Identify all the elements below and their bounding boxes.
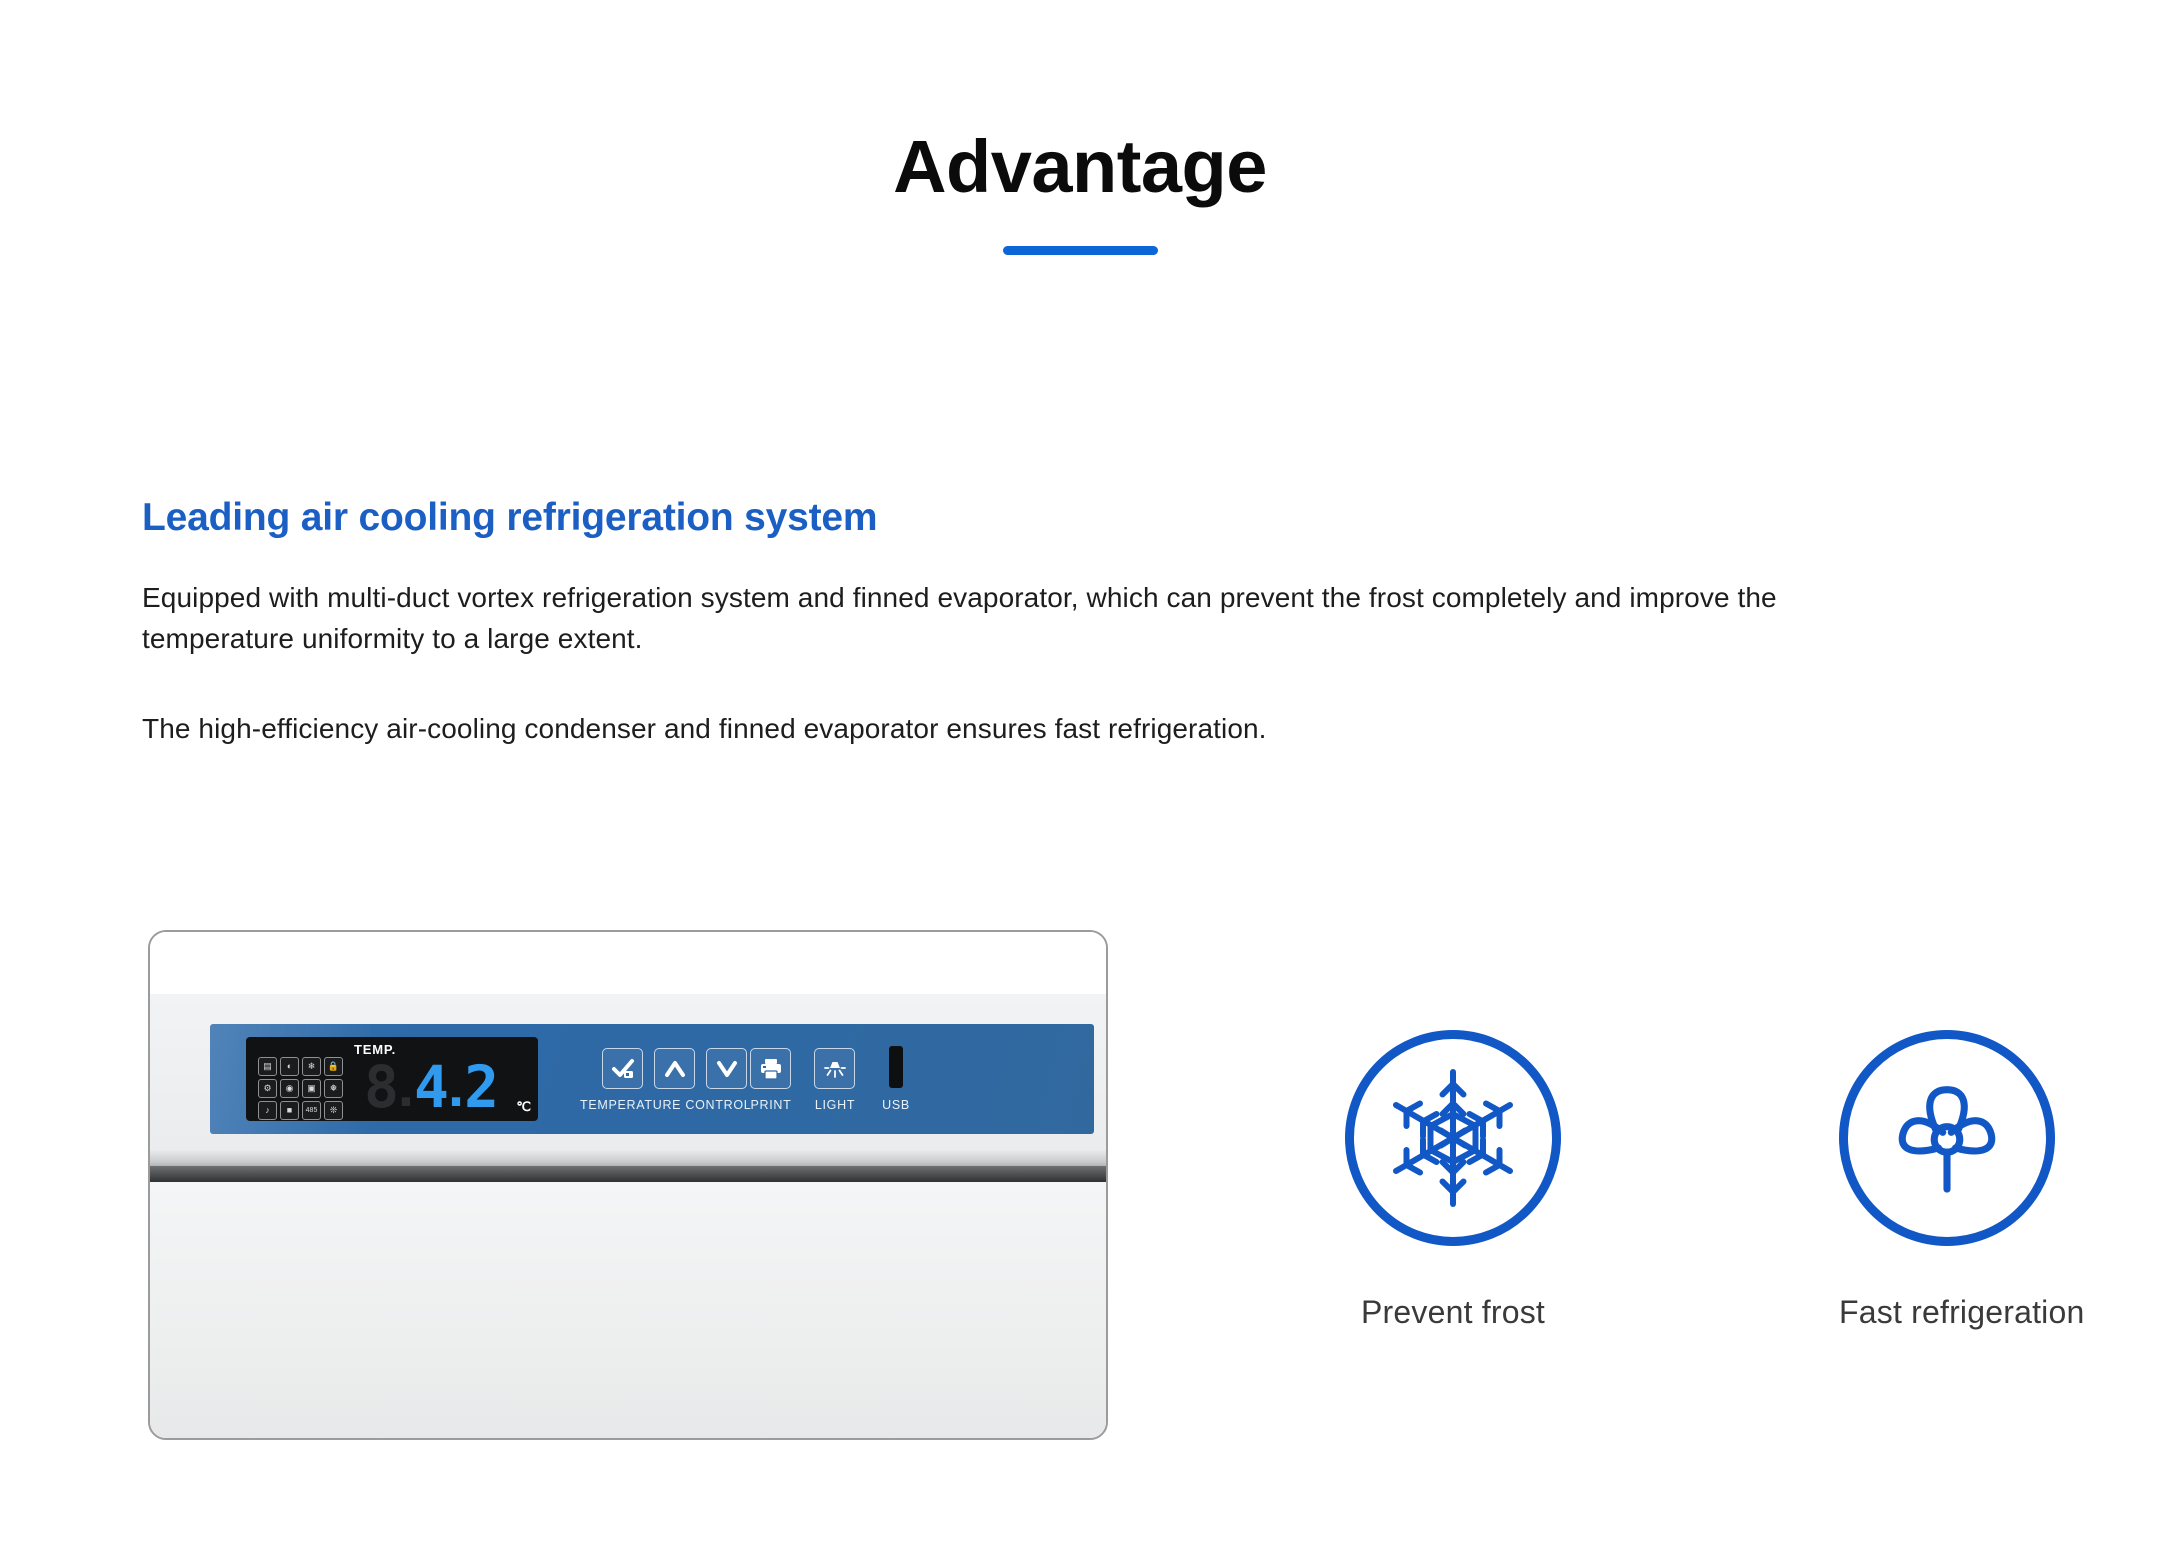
product-door-gap: [150, 1166, 1106, 1182]
product-lower-door: [150, 1182, 1106, 1440]
wifi-icon: ◐: [280, 1057, 299, 1076]
body-paragraph-1: Equipped with multi-duct vortex refriger…: [142, 577, 1782, 660]
snowflake-icon: ❄: [302, 1057, 321, 1076]
light-button[interactable]: [814, 1048, 855, 1089]
product-image: TEMP. ▤ ◐ ❄ 🔒 ⚙ ◉ ▣ ❅ ♪ ■ 485 ❊ 8: [148, 930, 1108, 1440]
snowflake-icon: [1345, 1030, 1561, 1246]
lcd-dot-1: .: [398, 1059, 414, 1115]
print-button[interactable]: [750, 1048, 791, 1089]
content-section: Leading air cooling refrigeration system…: [142, 496, 1842, 749]
sensor-icon: ◉: [280, 1079, 299, 1098]
fan-icon: [1839, 1030, 2055, 1246]
printer-icon: ▣: [302, 1079, 321, 1098]
page-title: Advantage: [0, 130, 2160, 204]
temperature-control-buttons: [602, 1048, 747, 1089]
advantage-page: Advantage Leading air cooling refrigerat…: [0, 0, 2160, 1559]
temperature-unit: ℃: [516, 1099, 531, 1115]
down-arrow-button[interactable]: [706, 1048, 747, 1089]
defrost-icon: ⚙: [258, 1079, 277, 1098]
product-top-edge: [150, 932, 1106, 994]
light-button-group: [814, 1048, 855, 1089]
lock-icon: 🔒: [324, 1057, 343, 1076]
page-header: Advantage: [0, 130, 2160, 255]
section-heading: Leading air cooling refrigeration system: [142, 496, 1842, 541]
display-icon: ▤: [258, 1057, 277, 1076]
temperature-control-caption: TEMPERATURE CONTROL: [580, 1098, 730, 1112]
lcd-decimal-point: .: [448, 1059, 464, 1115]
lcd-digit-3: 2: [464, 1059, 498, 1115]
control-panel: TEMP. ▤ ◐ ❄ 🔒 ⚙ ◉ ▣ ❅ ♪ ■ 485 ❊ 8: [210, 1024, 1094, 1134]
up-arrow-button[interactable]: [654, 1048, 695, 1089]
title-underline-accent: [1003, 246, 1158, 255]
rs485-icon: 485: [302, 1101, 321, 1120]
feature-prevent-frost: Prevent frost: [1345, 1030, 1561, 1331]
temperature-digits: 8 . 4 . 2: [364, 1053, 498, 1115]
lcd-display: TEMP. ▤ ◐ ❄ 🔒 ⚙ ◉ ▣ ❅ ♪ ■ 485 ❊ 8: [246, 1037, 538, 1121]
set-check-button[interactable]: [602, 1048, 643, 1089]
battery-icon: ■: [280, 1101, 299, 1120]
fan-icon: ❊: [324, 1101, 343, 1120]
section-body: Equipped with multi-duct vortex refriger…: [142, 577, 1842, 749]
frost-icon: ❅: [324, 1079, 343, 1098]
usb-port[interactable]: [889, 1046, 903, 1088]
body-paragraph-2: The high-efficiency air-cooling condense…: [142, 708, 1782, 749]
lcd-digit-2: 4: [414, 1059, 448, 1115]
feature-fast-refrigeration: Fast refrigeration: [1839, 1030, 2055, 1331]
alarm-mute-icon: ♪: [258, 1101, 277, 1120]
feature-caption: Fast refrigeration: [1839, 1294, 2055, 1331]
lcd-digit-1: 8: [364, 1059, 398, 1115]
status-icon-grid: ▤ ◐ ❄ 🔒 ⚙ ◉ ▣ ❅ ♪ ■ 485 ❊: [258, 1057, 343, 1120]
print-button-group: [750, 1048, 791, 1089]
feature-list: Prevent frost Fast refrigeration: [1345, 1030, 2055, 1331]
feature-caption: Prevent frost: [1345, 1294, 1561, 1331]
usb-caption: USB: [855, 1098, 937, 1112]
